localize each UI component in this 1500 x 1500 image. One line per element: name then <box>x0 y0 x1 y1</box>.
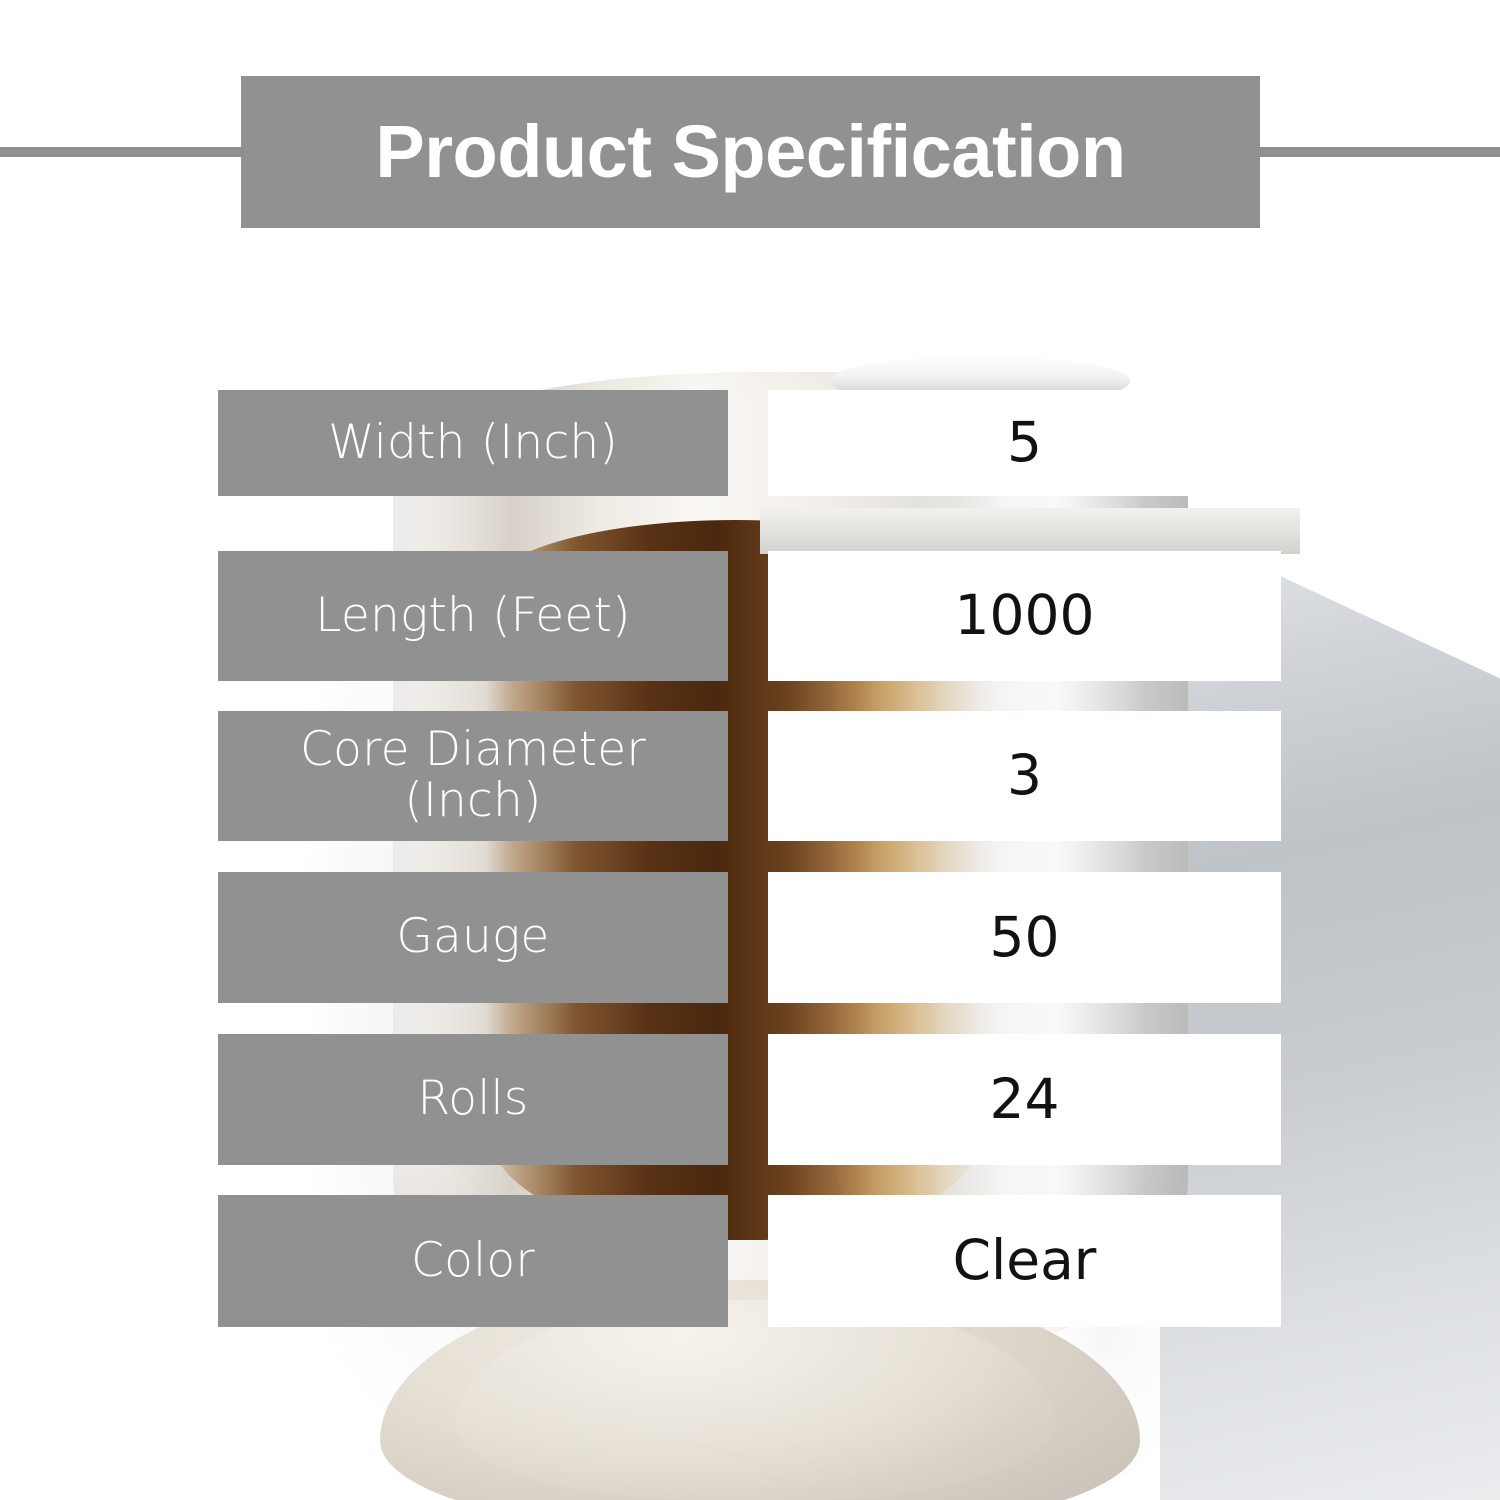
spec-value-core-diameter: 3 <box>768 711 1281 841</box>
spec-value-rolls: 24 <box>768 1034 1281 1165</box>
spec-label-rolls: Rolls <box>218 1034 728 1165</box>
spec-label-width: Width (Inch) <box>218 390 728 496</box>
spec-label-core-diameter-line1: Core Diameter <box>300 725 646 776</box>
spec-value-length: 1000 <box>768 551 1281 681</box>
spec-label-gauge: Gauge <box>218 872 728 1003</box>
spec-label-core-diameter-line2: (Inch) <box>404 776 541 827</box>
spec-value-color: Clear <box>768 1195 1281 1327</box>
product-specification-page: Product Specification Width (Inch) 5 Len… <box>0 0 1500 1500</box>
spec-value-width: 5 <box>768 390 1281 496</box>
spec-label-length: Length (Feet) <box>218 551 728 681</box>
spec-label-core-diameter: Core Diameter (Inch) <box>218 711 728 841</box>
spec-table: Width (Inch) 5 Length (Feet) 1000 Core D… <box>0 0 1500 1500</box>
spec-value-gauge: 50 <box>768 872 1281 1003</box>
spec-label-color: Color <box>218 1195 728 1327</box>
